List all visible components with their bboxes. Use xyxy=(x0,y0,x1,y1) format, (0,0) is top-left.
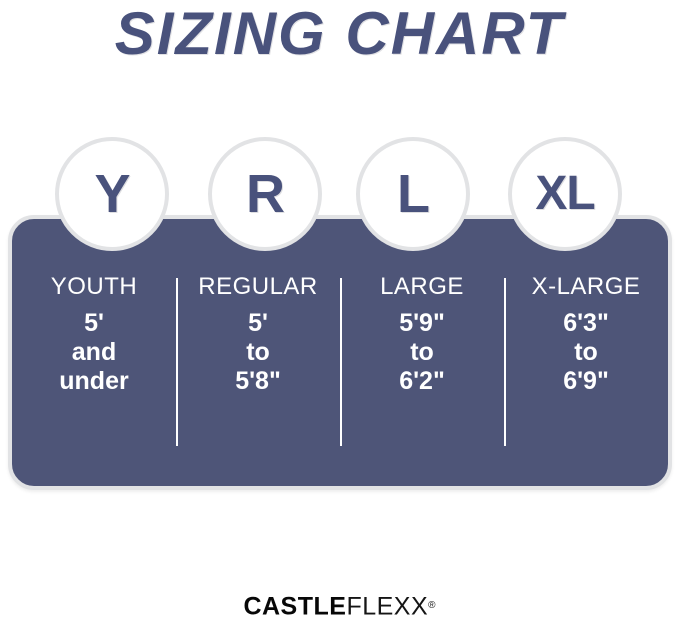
size-column-title: LARGE xyxy=(380,273,464,301)
sizing-chart-graphic: SIZING CHART Y R L XL YOUTH 5' and under… xyxy=(0,0,679,632)
size-badge-large: L xyxy=(356,137,470,251)
size-column-xlarge: X-LARGE 6'3" to 6'9" xyxy=(504,215,668,490)
size-column-range: 5'9" to 6'2" xyxy=(399,309,445,396)
size-columns: YOUTH 5' and under REGULAR 5' to 5'8" LA… xyxy=(12,215,668,490)
brand-logo-castle: CASTLE xyxy=(243,592,346,620)
page-title: SIZING CHART xyxy=(0,2,679,66)
size-badge-xlarge: XL xyxy=(508,137,622,251)
size-column-range: 5' and under xyxy=(59,309,128,396)
size-column-large: LARGE 5'9" to 6'2" xyxy=(340,215,504,490)
size-column-range: 6'3" to 6'9" xyxy=(563,309,609,396)
size-column-title: YOUTH xyxy=(51,273,138,301)
size-column-title: REGULAR xyxy=(198,273,318,301)
size-column-regular: REGULAR 5' to 5'8" xyxy=(176,215,340,490)
size-badge-youth: Y xyxy=(55,137,169,251)
size-badge-letter: XL xyxy=(535,170,594,218)
size-badge-regular: R xyxy=(208,137,322,251)
registered-trademark-icon: ® xyxy=(428,600,435,611)
size-badge-letter: R xyxy=(246,167,284,221)
brand-logo: CASTLEFLEXX® xyxy=(0,592,679,624)
size-column-youth: YOUTH 5' and under xyxy=(12,215,176,490)
size-column-range: 5' to 5'8" xyxy=(235,309,281,396)
size-badge-letter: L xyxy=(397,167,429,221)
size-column-title: X-LARGE xyxy=(532,273,641,301)
size-badge-letter: Y xyxy=(94,167,129,221)
brand-logo-flexx: FLEXX xyxy=(346,592,428,620)
